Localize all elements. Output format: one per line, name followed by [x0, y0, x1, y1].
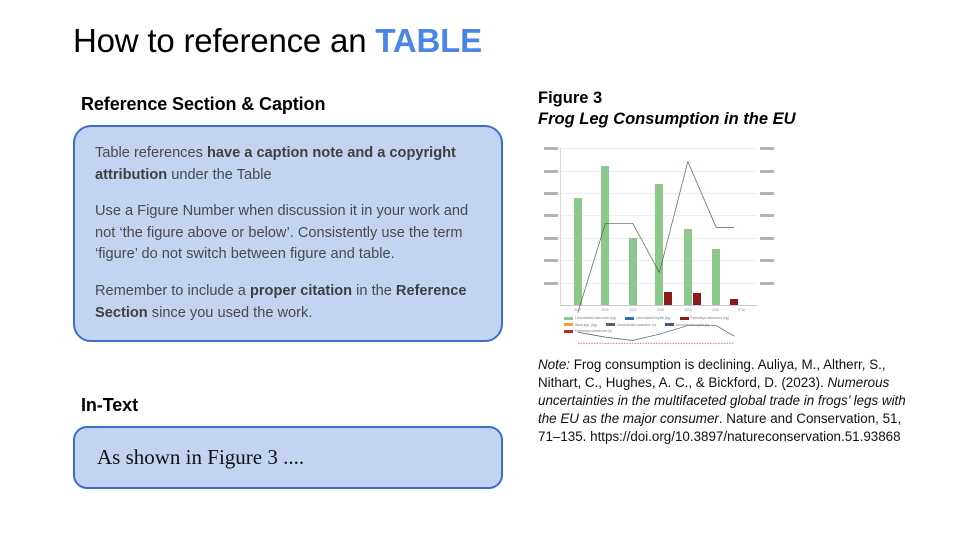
- legend-swatch-icon: [564, 317, 573, 320]
- legend-swatch-icon: [564, 323, 573, 326]
- legend-item: Fejervarya cancrivora (kg): [680, 316, 729, 320]
- in-text-example-box: As shown in Figure 3 ....: [73, 426, 503, 489]
- legend-label: Limnonectes blythii (kg): [636, 316, 671, 320]
- callout-paragraph-1: Table references have a caption note and…: [95, 143, 481, 186]
- legend-swatch-icon: [625, 317, 634, 320]
- callout-p1-text-a: Table references: [95, 145, 207, 161]
- slide-canvas: How to reference an TABLE Reference Sect…: [0, 0, 960, 540]
- x-tick-label: 2013: [657, 308, 664, 312]
- figure-title-label: Frog Leg Consumption in the EU: [538, 109, 922, 130]
- page-title-prefix: How to reference an: [73, 22, 375, 59]
- x-tick-label: 2016: [738, 308, 745, 312]
- legend-label: Fejervarya cancrivora (n): [575, 329, 612, 333]
- legend-item: Fejervarya cancrivora (n): [564, 329, 612, 333]
- legend-label: Limnonectes macrodon (kg): [575, 316, 616, 320]
- legend-item: Limnonectes blythii (n): [665, 323, 709, 327]
- callout-paragraph-2: Use a Figure Number when discussion it i…: [95, 201, 481, 266]
- legend-label: Rana spp. (kg): [575, 323, 597, 327]
- legend-swatch-icon: [564, 330, 573, 333]
- x-tick-label: 2012: [629, 308, 636, 312]
- figure-chart-image: 2010 2011 2012 2013 2014 2015 2016 Limno…: [538, 142, 779, 342]
- legend-item: Limnonectes macrodon (kg): [564, 316, 616, 320]
- x-tick-label: 2015: [712, 308, 719, 312]
- legend-swatch-icon: [665, 323, 674, 326]
- legend-item: Limnonectes macrodon (n): [606, 323, 656, 327]
- figure-note-citation: Note: Frog consumption is declining. Aul…: [538, 356, 922, 446]
- callout-p3-text-a: Remember to include a: [95, 283, 250, 299]
- chart-legend: Limnonectes macrodon (kg) Limnonectes bl…: [564, 316, 771, 342]
- page-title-accent: TABLE: [375, 22, 482, 59]
- in-text-example-text: As shown in Figure 3 ....: [97, 445, 304, 469]
- legend-label: Fejervarya cancrivora (kg): [691, 316, 729, 320]
- figure-column: Figure 3 Frog Leg Consumption in the EU: [538, 88, 922, 446]
- callout-p1-text-c: under the Table: [167, 167, 271, 183]
- chart-x-axis-labels: 2010 2011 2012 2013 2014 2015 2016: [560, 308, 757, 316]
- callout-p3-bold-citation: proper citation: [250, 283, 352, 299]
- line-series-primary: [578, 162, 734, 313]
- legend-label: Limnonectes macrodon (n): [617, 323, 656, 327]
- reference-section-column: Reference Section & Caption Table refere…: [73, 94, 503, 342]
- in-text-column: In-Text As shown in Figure 3 ....: [73, 395, 503, 489]
- section-heading-in-text: In-Text: [81, 395, 503, 416]
- legend-swatch-icon: [680, 317, 689, 320]
- x-tick-label: 2011: [602, 308, 609, 312]
- callout-paragraph-3: Remember to include a proper citation in…: [95, 281, 481, 324]
- figure-number-label: Figure 3: [538, 88, 922, 109]
- x-tick-label: 2010: [574, 308, 581, 312]
- callout-p3-text-c: in the: [352, 283, 396, 299]
- page-title: How to reference an TABLE: [73, 22, 482, 60]
- callout-p3-text-e: since you used the work.: [148, 305, 313, 321]
- legend-swatch-icon: [606, 323, 615, 326]
- legend-label: Limnonectes blythii (n): [676, 323, 709, 327]
- section-heading-reference: Reference Section & Caption: [81, 94, 503, 115]
- legend-item: Rana spp. (kg): [564, 323, 597, 327]
- note-lead-label: Note:: [538, 357, 570, 372]
- legend-item: Limnonectes blythii (kg): [625, 316, 671, 320]
- chart-plot-area: [560, 148, 757, 306]
- x-tick-label: 2014: [685, 308, 692, 312]
- reference-callout-box: Table references have a caption note and…: [73, 125, 503, 342]
